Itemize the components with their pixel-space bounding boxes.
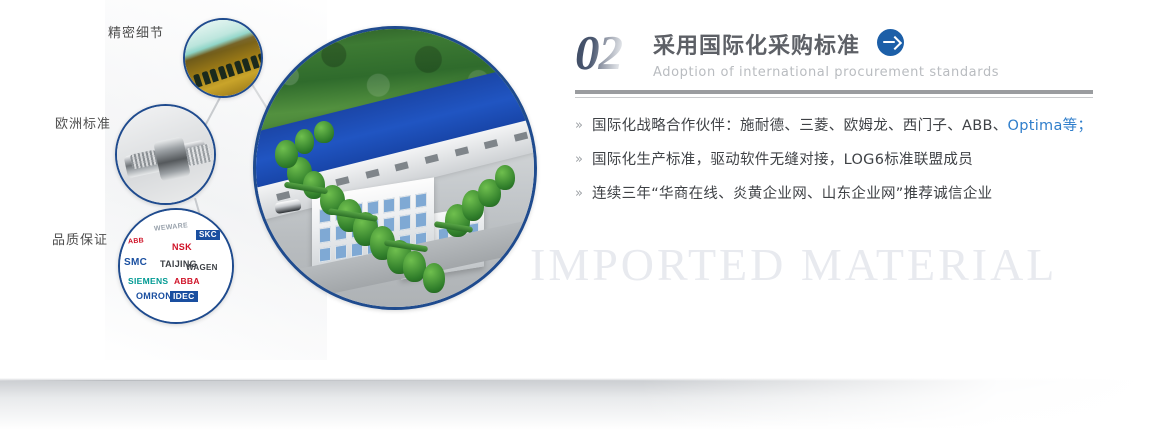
gear-tooth xyxy=(225,63,235,77)
divider-thin-line xyxy=(575,97,1093,98)
tree xyxy=(423,263,445,294)
tree xyxy=(495,165,514,190)
section-number: 02 xyxy=(575,28,622,77)
ball-screw-photo xyxy=(115,104,216,205)
side-label-precision: 精密细节 xyxy=(108,22,164,41)
section-header: 02 采用国际化采购标准 Adoption of international p… xyxy=(575,22,1105,92)
office-window xyxy=(398,195,410,212)
arrow-right-circle-icon[interactable] xyxy=(877,29,904,56)
warehouse-window xyxy=(335,176,349,186)
brand-logo-abba: ABBA xyxy=(174,277,200,286)
warehouse-window xyxy=(424,154,438,164)
brand-logo-omron: OMRON xyxy=(136,292,172,301)
factory-building-photo xyxy=(253,26,537,310)
precision-gear-photo xyxy=(183,18,263,98)
brand-logo-smc: SMC xyxy=(124,258,147,268)
bullet-text-plain: 连续三年“华商在线、炎黄企业网、山东企业网”推荐诚信企业 xyxy=(592,186,992,202)
office-window xyxy=(383,198,395,215)
bullet-text: 连续三年“华商在线、炎黄企业网、山东企业网”推荐诚信企业 xyxy=(592,184,992,204)
gear-tooth xyxy=(209,68,219,82)
page-subtitle: Adoption of international procurement st… xyxy=(653,65,999,80)
warehouse-window xyxy=(395,161,409,171)
side-label-quality-guarantee: 品质保证 xyxy=(52,229,108,248)
chevron-double-right-icon: » xyxy=(575,150,592,170)
brand-logo-siemens: SIEMENS xyxy=(128,277,168,286)
office-window xyxy=(414,193,426,210)
bullet-text-plain: 国际化生产标准，驱动软件无缝对接，LOG6标准联盟成员 xyxy=(592,152,973,168)
bullet-text: 国际化生产标准，驱动软件无缝对接，LOG6标准联盟成员 xyxy=(592,150,973,170)
tree xyxy=(314,121,333,143)
brand-logo-abb: ABB xyxy=(128,237,145,245)
chevron-double-right-icon: » xyxy=(575,116,592,136)
bullet-row: »国际化生产标准，驱动软件无缝对接，LOG6标准联盟成员 xyxy=(575,150,1095,170)
warehouse-window xyxy=(513,132,527,142)
page-title: 采用国际化采购标准 xyxy=(653,28,860,60)
section-heading-group: 采用国际化采购标准 Adoption of international proc… xyxy=(653,28,999,80)
chevron-double-right-icon: » xyxy=(575,184,592,204)
divider-thick-line xyxy=(575,90,1093,94)
bullet-text-highlight: Optima等； xyxy=(1008,118,1093,134)
brand-logo-nsk: NSK xyxy=(172,243,192,252)
office-window xyxy=(398,215,410,232)
feature-bullet-list: »国际化战略合作伙伴：施耐德、三菱、欧姆龙、西门子、ABB、Optima等；»国… xyxy=(575,116,1095,218)
floor-fade-overlay xyxy=(640,378,1150,430)
tree xyxy=(295,129,314,154)
promo-banner: 精密细节 欧洲标准 品质保证 WEWARESKCABBNSKSMCTAIJING… xyxy=(0,0,1150,430)
brand-logo-wagen: WAGEN xyxy=(186,264,218,272)
office-window xyxy=(414,212,426,229)
bullet-text-plain: 国际化战略合作伙伴：施耐德、三菱、欧姆龙、西门子、ABB、 xyxy=(592,118,1008,134)
warehouse-window xyxy=(454,147,468,157)
gear-tooth xyxy=(241,58,251,72)
office-window xyxy=(319,247,331,264)
warehouse-window xyxy=(276,191,290,201)
side-label-european-standard: 欧洲标准 xyxy=(55,113,111,132)
watermark-text: IMPORTED MATERIAL xyxy=(530,238,1057,291)
content-column: 02 采用国际化采购标准 Adoption of international p… xyxy=(575,22,1105,92)
brand-logo-idec: IDEC xyxy=(170,291,198,302)
warehouse-window xyxy=(365,169,379,179)
bullet-row: »连续三年“华商在线、炎黄企业网、山东企业网”推荐诚信企业 xyxy=(575,184,1095,204)
header-divider xyxy=(575,90,1093,98)
bullet-text: 国际化战略合作伙伴：施耐德、三菱、欧姆龙、西门子、ABB、Optima等； xyxy=(592,116,1092,136)
office-window xyxy=(319,227,331,244)
brand-logo-skc: SKC xyxy=(196,230,220,240)
brand-logos-collage: WEWARESKCABBNSKSMCTAIJINGWAGENSIEMENSABB… xyxy=(118,208,234,324)
warehouse-window xyxy=(484,139,498,149)
bullet-row: »国际化战略合作伙伴：施耐德、三菱、欧姆龙、西门子、ABB、Optima等； xyxy=(575,116,1095,136)
